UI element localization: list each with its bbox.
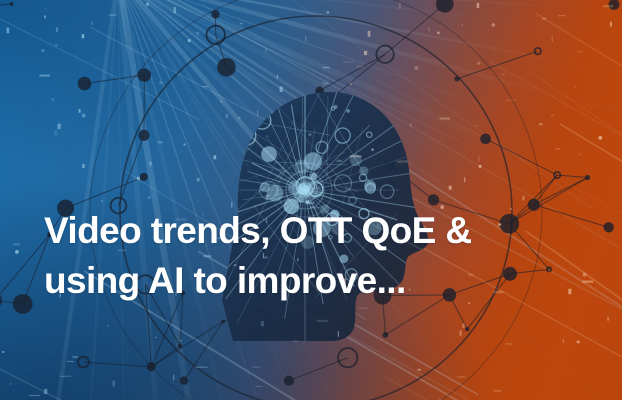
title-line-2: using AI to improve... [44, 256, 584, 306]
data-particles-icon [0, 0, 622, 400]
title-line-1: Video trends, OTT QoE & [44, 206, 584, 256]
background-blue-vignette [0, 0, 622, 400]
diagonal-streaks-icon [0, 0, 622, 400]
light-rays-icon [0, 0, 622, 400]
page-title: Video trends, OTT QoE & using AI to impr… [44, 206, 584, 306]
hero-banner: Video trends, OTT QoE & using AI to impr… [0, 0, 622, 400]
background-gradient [0, 0, 622, 400]
neural-network-icon [0, 0, 622, 400]
head-silhouette-icon [0, 0, 622, 400]
